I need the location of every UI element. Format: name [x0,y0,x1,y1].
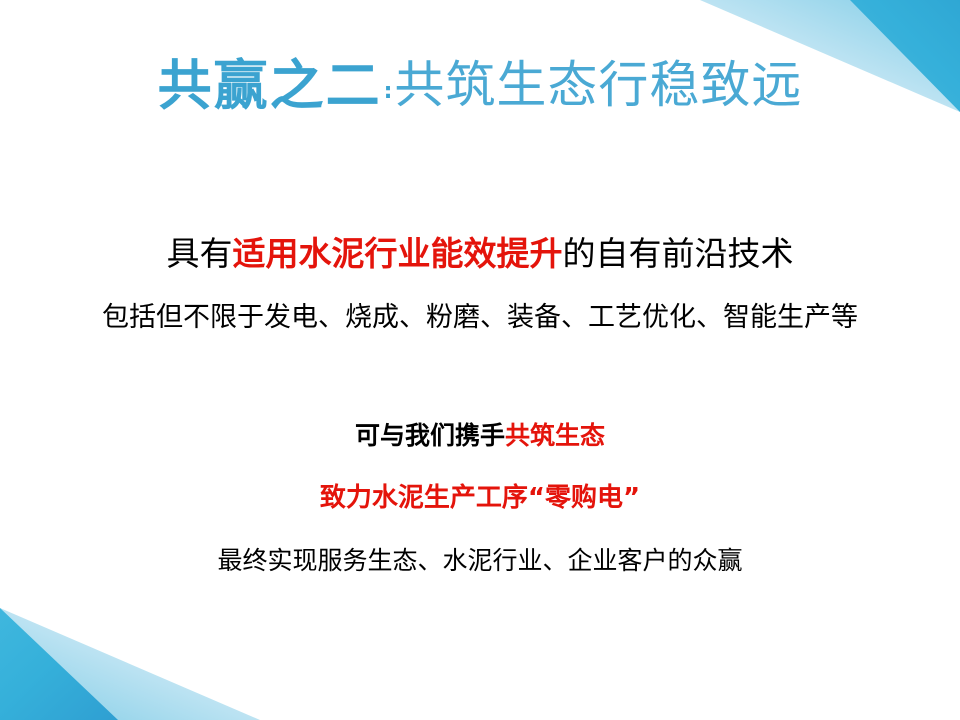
body-line-winwin: 最终实现服务生态、水泥行业、企业客户的众赢 [0,546,960,576]
body-line-1-highlight: 适用水泥行业能效提升 [233,234,563,273]
diagonal-ribbon-bottom-left-icon [0,590,260,720]
body-line-zero-power: 致力水泥生产工序“零购电” [0,483,960,514]
body-line-4-text: 致力水泥生产工序“零购电” [320,483,640,513]
page-title-main: 共赢之二 [158,53,382,117]
body-line-1-prefix: 具有 [167,234,233,273]
body-line-scope: 包括但不限于发电、烧成、粉磨、装备、工艺优化、智能生产等 [0,302,960,334]
page-title: 共赢之二:共筑生态行稳致远 [0,58,960,112]
body-line-5-text: 最终实现服务生态、水泥行业、企业客户的众赢 [217,546,742,575]
body-line-2-text: 包括但不限于发电、烧成、粉磨、装备、工艺优化、智能生产等 [102,302,858,333]
slide-canvas: 共赢之二:共筑生态行稳致远 具有适用水泥行业能效提升的自有前沿技术 包括但不限于… [0,0,960,720]
page-title-sub: 共筑生态行稳致远 [394,56,802,114]
body-line-technology: 具有适用水泥行业能效提升的自有前沿技术 [0,234,960,274]
body-line-1-suffix: 的自有前沿技术 [563,234,794,273]
body-line-partnership: 可与我们携手共筑生态 [0,421,960,451]
body-line-3-highlight: 共筑生态 [505,421,605,450]
body-line-3-prefix: 可与我们携手 [355,421,505,450]
page-title-separator: : [382,79,395,104]
